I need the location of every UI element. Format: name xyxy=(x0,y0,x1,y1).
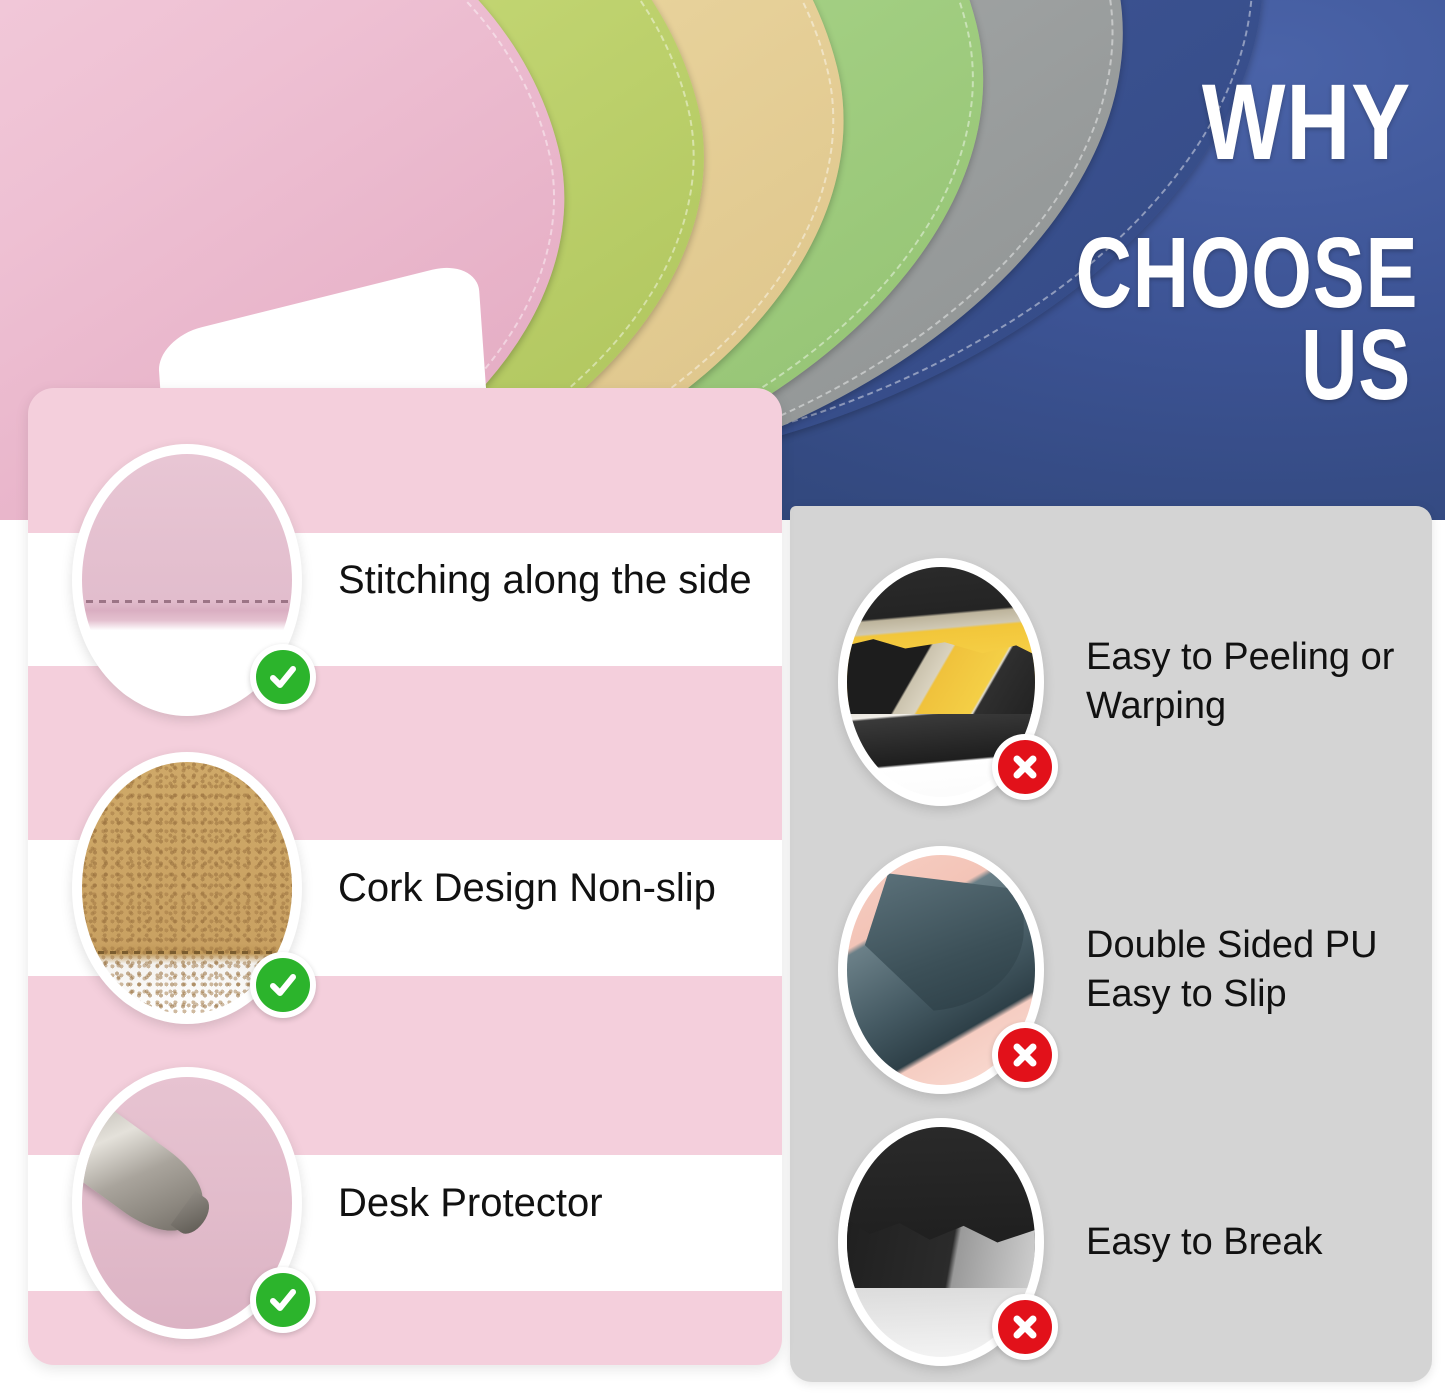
cons-item: Double Sided PU Easy to Slip xyxy=(790,824,1432,1116)
pros-item-label: Cork Design Non-slip xyxy=(338,862,768,914)
headline-line-1: WHY xyxy=(1058,72,1411,171)
cons-item: Easy to Peeling or Warping xyxy=(790,536,1432,828)
cross-icon xyxy=(992,1022,1058,1088)
pros-item: Desk Protector xyxy=(28,1053,782,1353)
check-icon xyxy=(250,952,316,1018)
cons-thumbnail xyxy=(838,846,1044,1094)
cross-icon-disc xyxy=(998,740,1052,794)
cross-icon-disc xyxy=(998,1300,1052,1354)
cons-item-label: Double Sided PU Easy to Slip xyxy=(1086,921,1414,1018)
check-icon-disc xyxy=(256,650,310,704)
pros-thumbnail xyxy=(72,752,302,1024)
pros-item-label: Desk Protector xyxy=(338,1177,768,1229)
cons-thumbnail xyxy=(838,1118,1044,1366)
check-icon xyxy=(250,1267,316,1333)
promo-image-root: WHY CHOOSE US Easy to Peeling or Warping xyxy=(0,0,1445,1394)
cross-icon-disc xyxy=(998,1028,1052,1082)
cross-icon xyxy=(992,734,1058,800)
cons-item: Easy to Break xyxy=(790,1096,1432,1388)
cons-thumbnail xyxy=(838,558,1044,806)
cons-item-label: Easy to Break xyxy=(1086,1218,1414,1267)
headline-line-2: CHOOSE US xyxy=(1076,227,1411,411)
cons-item-label: Easy to Peeling or Warping xyxy=(1086,633,1414,730)
cross-icon xyxy=(992,1294,1058,1360)
screwdriver-icon xyxy=(82,1094,217,1246)
check-icon xyxy=(250,644,316,710)
pros-card: Stitching along the side Cork Design Non… xyxy=(28,388,782,1365)
cons-panel: Easy to Peeling or Warping Double Sided … xyxy=(790,506,1432,1382)
pros-item: Stitching along the side xyxy=(28,430,782,730)
check-icon-disc xyxy=(256,958,310,1012)
pros-item-label: Stitching along the side xyxy=(338,554,768,606)
pros-item: Cork Design Non-slip xyxy=(28,738,782,1038)
pros-thumbnail xyxy=(72,1067,302,1339)
page-title: WHY CHOOSE US xyxy=(981,72,1411,411)
pros-thumbnail xyxy=(72,444,302,716)
check-icon-disc xyxy=(256,1273,310,1327)
